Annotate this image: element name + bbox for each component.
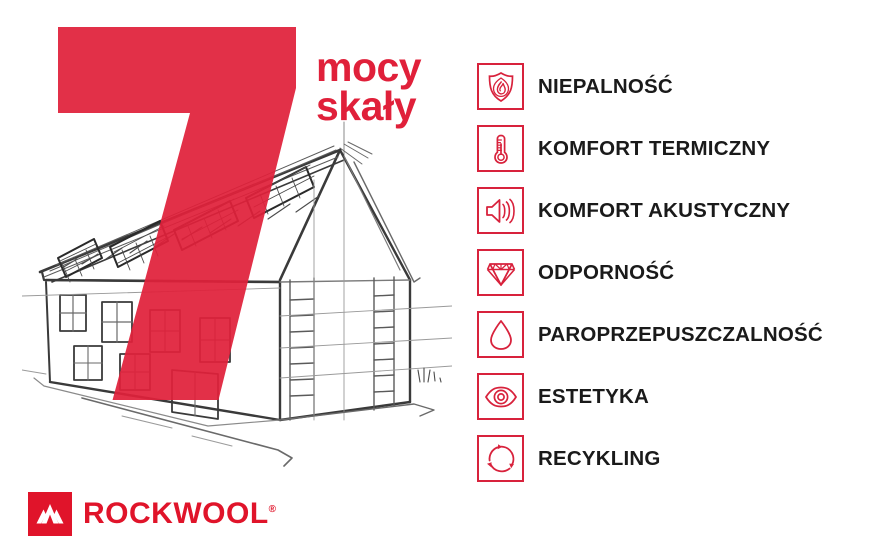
wordmark-text: ROCKWOOL — [83, 497, 269, 530]
feature-label: ESTETYKA — [538, 385, 649, 409]
recycling-arrows-icon-box — [477, 435, 524, 482]
thermometer-icon — [486, 133, 516, 165]
feature-item-odpornosc: ODPORNOŚĆ — [477, 249, 877, 296]
water-droplet-icon — [487, 319, 515, 351]
claim-text: mocy skały — [316, 48, 421, 126]
speaker-soundwave-icon — [484, 196, 518, 226]
diamond-icon — [484, 258, 518, 288]
claim-line-1: mocy — [316, 48, 421, 87]
feature-item-paroprzepuszczalnosc: PAROPRZEPUSZCZALNOŚĆ — [477, 311, 877, 358]
rockwool-mountain-mark-icon — [28, 492, 72, 536]
speaker-soundwave-icon-box — [477, 187, 524, 234]
shield-flame-icon — [486, 71, 516, 103]
feature-item-komfort-akustyczny: KOMFORT AKUSTYCZNY — [477, 187, 877, 234]
eye-icon-box — [477, 373, 524, 420]
house-sketch-illustration — [22, 120, 452, 490]
thermometer-icon-box — [477, 125, 524, 172]
feature-item-niepalnosc: NIEPALNOŚĆ — [477, 63, 877, 110]
rockwool-logo: ROCKWOOL® — [28, 492, 277, 536]
mountain-glyph — [28, 492, 72, 536]
shield-flame-icon-box — [477, 63, 524, 110]
rockwool-wordmark: ROCKWOOL® — [83, 497, 277, 531]
registered-mark: ® — [269, 504, 277, 515]
feature-list: NIEPALNOŚĆ KOMFORT TERMICZ — [477, 63, 877, 482]
feature-label: KOMFORT TERMICZNY — [538, 137, 770, 161]
feature-label: KOMFORT AKUSTYCZNY — [538, 199, 790, 223]
feature-label: PAROPRZEPUSZCZALNOŚĆ — [538, 323, 823, 347]
poster-canvas: mocy skały NIEPALNOŚĆ — [0, 0, 880, 554]
feature-label: RECYKLING — [538, 447, 661, 471]
feature-item-estetyka: ESTETYKA — [477, 373, 877, 420]
eye-icon — [484, 385, 518, 409]
recycling-arrows-icon — [485, 443, 517, 475]
feature-item-recykling: RECYKLING — [477, 435, 877, 482]
water-droplet-icon-box — [477, 311, 524, 358]
claim-line-2: skały — [316, 87, 421, 126]
diamond-icon-box — [477, 249, 524, 296]
feature-label: ODPORNOŚĆ — [538, 261, 674, 285]
hero-illustration-area: mocy skały — [0, 0, 470, 500]
feature-label: NIEPALNOŚĆ — [538, 75, 673, 99]
feature-item-komfort-termiczny: KOMFORT TERMICZNY — [477, 125, 877, 172]
